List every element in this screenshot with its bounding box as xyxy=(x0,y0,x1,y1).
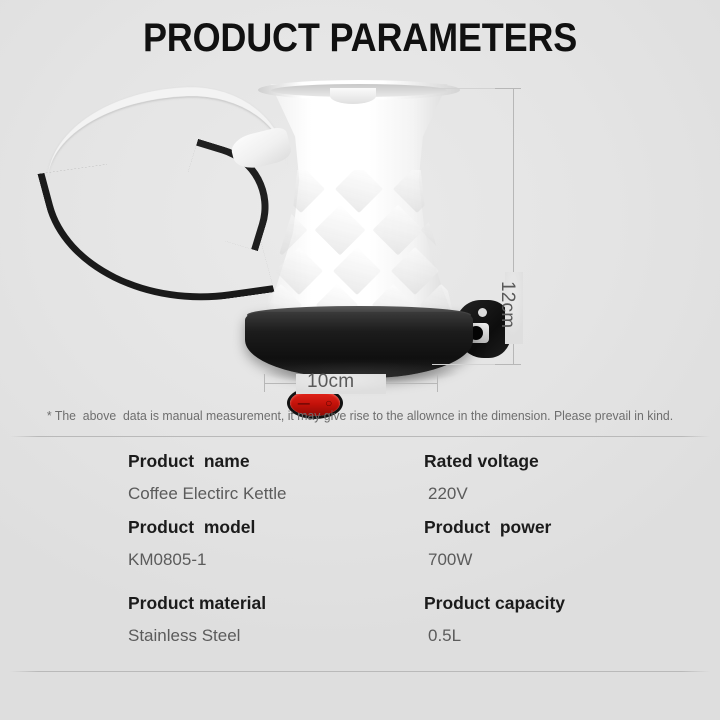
switch-on-mark: — xyxy=(298,397,310,409)
divider-above-table xyxy=(10,436,710,437)
width-dimension-tick-left xyxy=(264,374,265,392)
spec-key: Product capacity xyxy=(424,595,704,613)
product-photo: — ○ xyxy=(0,70,720,400)
spec-value: Stainless Steel xyxy=(128,627,240,644)
width-dimension-tick-right xyxy=(437,374,438,392)
spec-row-product-model: Product model KM0805-1 xyxy=(128,519,418,537)
spec-value: 700W xyxy=(428,551,472,568)
spec-row-product-power: Product power 700W xyxy=(424,519,704,537)
kettle-facet xyxy=(421,205,472,256)
kettle-facet-texture xyxy=(256,170,462,325)
height-dimension-label: 12cm xyxy=(496,275,518,334)
spec-value: 220V xyxy=(428,485,468,502)
page-title: PRODUCT PARAMETERS xyxy=(36,16,684,61)
spec-row-product-material: Product material Stainless Steel xyxy=(128,595,418,613)
spec-row-product-name: Product name Coffee Electirc Kettle xyxy=(128,453,418,471)
kettle-spout xyxy=(330,88,376,104)
specification-table: Product name Coffee Electirc Kettle Prod… xyxy=(0,448,720,658)
divider-below-table xyxy=(10,671,710,672)
spec-row-product-capacity: Product capacity 0.5L xyxy=(424,595,704,613)
spec-value: KM0805-1 xyxy=(128,551,206,568)
measurement-disclaimer: * The above data is manual measurement, … xyxy=(7,409,713,423)
height-dimension-tick-top xyxy=(495,88,521,89)
spec-value: 0.5L xyxy=(428,627,461,644)
spec-key: Rated voltage xyxy=(424,453,704,471)
spec-key: Product name xyxy=(128,453,418,471)
spec-row-rated-voltage: Rated voltage 220V xyxy=(424,453,704,471)
height-dimension-tick-bottom xyxy=(495,364,521,365)
product-parameters-page: PRODUCT PARAMETERS — ○ 10cm 12cm * Th xyxy=(0,0,720,720)
width-dimension-label: 10cm xyxy=(300,371,361,393)
spec-key: Product material xyxy=(128,595,418,613)
spec-key: Product model xyxy=(128,519,418,537)
switch-off-mark: ○ xyxy=(325,397,332,409)
plug-pin xyxy=(478,308,487,317)
spec-key: Product power xyxy=(424,519,704,537)
spec-value: Coffee Electirc Kettle xyxy=(128,485,286,502)
